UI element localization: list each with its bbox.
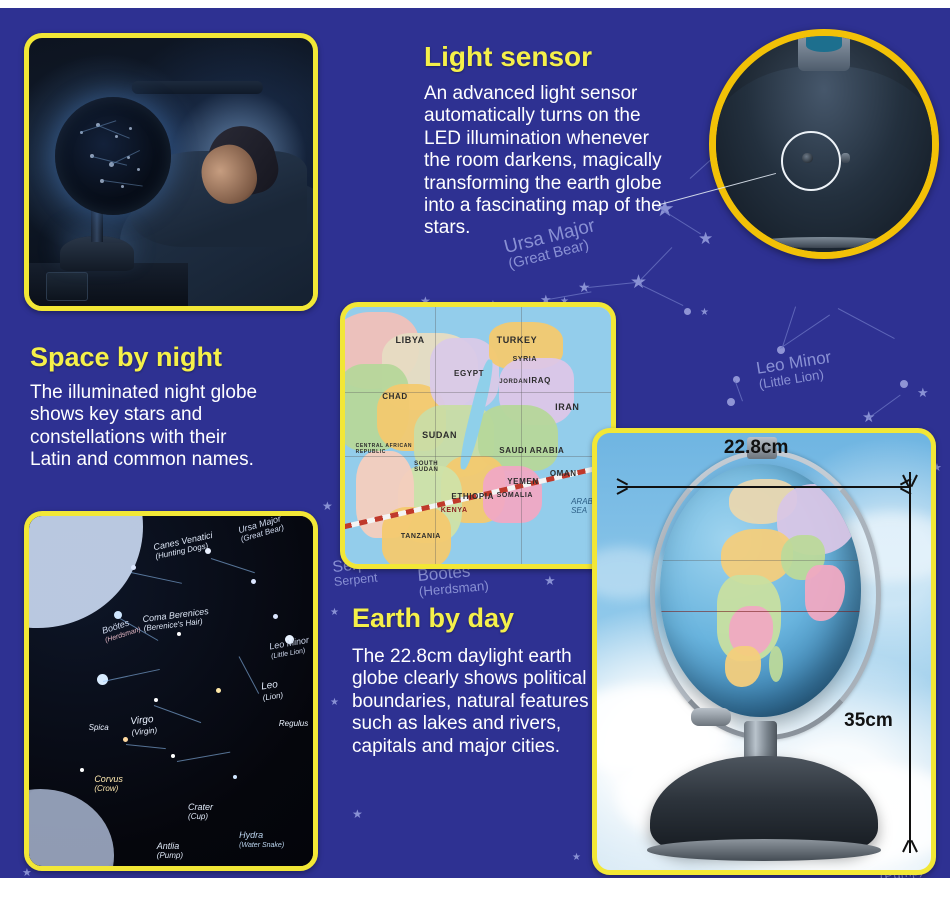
bed-headboard [132,81,263,94]
constellation-overlay [62,104,164,208]
bg-star: ★ [330,698,339,708]
globe-star-label: Spica [89,723,109,732]
map-country-label: CHAD [382,392,408,401]
bg-constellation-line [780,315,830,349]
globe-constellation-label: Crater(Cup) [188,803,213,822]
bg-star: ★ [330,608,339,618]
globe-constellation-label: Hydra(Water Snake) [239,831,284,850]
bg-constellation-line [640,284,684,306]
map-country-label: SUDAN [422,430,457,440]
bg-star: ★ [700,308,709,318]
map-country-label: TANZANIA [401,533,441,540]
lat-line [345,456,611,457]
bg-star: ★ [544,574,556,587]
bg-star: ★ [22,868,32,878]
globe-base-neck [798,29,850,71]
height-arrow-line [909,472,911,852]
bg-constellation-line [838,308,895,339]
bottom-white-margin [0,878,950,903]
bg-star: ★ [917,386,929,399]
height-dimension-label: 35cm [844,710,893,732]
width-arrow-left-head [617,479,629,486]
alarm-clock [46,272,88,301]
continent-india [805,565,845,621]
map-country-label: OMAN [550,469,577,478]
map-country-label: SOMALIA [497,492,533,499]
bg-star: ★ [630,273,647,292]
map-country-label: EGYPT [454,369,484,378]
bg-label-common: Serpent [333,569,394,589]
width-arrow-line [617,486,911,488]
bg-constellation-line [548,291,592,300]
light-sensor-heading: Light sensor [424,41,592,73]
bg-star-dot [727,398,735,406]
photo-map-closeup: LIBYA EGYPT CHAD SUDAN SOUTHSUDAN ETHIOP… [340,302,616,569]
map-country-label: YEMEN [507,477,538,486]
space-by-night-heading: Space by night [30,342,222,373]
bg-label-common: (Little Lion) [758,365,835,392]
globe-star-label: Regulus [279,719,308,728]
map-country-label: LIBYA [396,335,425,345]
map-country-label: TURKEY [497,335,538,345]
earth-by-day-heading: Earth by day [352,603,514,634]
map-country-label: JORDAN [499,379,528,385]
tropic-line [660,560,860,561]
bg-star: ★ [578,280,591,294]
bg-star-dot [900,380,908,388]
bg-star: ★ [322,500,333,512]
light-sensor-body: An advanced light sensor automatically t… [424,83,670,240]
map-country-label: KENYA [441,507,468,514]
equator-line [660,611,860,612]
globe-constellation-label: Antlia(Pump) [157,842,183,861]
map-country-label: SOUTHSUDAN [414,461,438,473]
map-country-label: ETHIOPIA [451,492,494,501]
globe-base-foot [751,237,898,248]
island-madagascar [769,646,783,681]
bg-star: ★ [698,230,713,247]
lon-line [521,307,522,564]
globe-constellation-label: Virgo(Virgin) [130,714,158,738]
bg-constellation-line [640,247,673,281]
bg-star: ★ [862,410,875,425]
map-country-label: IRAN [555,402,579,412]
infographic-page: Ursa Major (Great Bear) ★ ★ ★ ★ ★ Leo Mi… [0,0,950,903]
map-country-label: SYRIA [513,356,537,363]
bg-star: ★ [572,853,581,863]
bg-constellation-line [868,395,901,419]
globe-constellation-label: Leo(Lion) [261,679,284,703]
bg-constellation-leo-minor: Leo Minor (Little Lion) [755,347,835,391]
bg-label-name: Leo Minor [755,347,833,378]
night-globe-sphere [55,97,171,215]
bg-constellation-line [588,282,636,288]
space-by-night-body: The illuminated night globe shows key st… [30,382,260,472]
bg-star-dot [777,346,785,354]
globe-base-rim [647,839,881,861]
width-arrow-left-head [617,488,629,495]
height-arrow-top-head [911,474,918,487]
infographic-canvas: Ursa Major (Great Bear) ★ ★ ★ ★ ★ Leo Mi… [0,8,950,878]
map-country-label: IRAQ [529,376,551,385]
bg-constellation-line [735,380,743,401]
power-switch-icon [841,153,850,164]
earth-by-day-body: The 22.8cm daylight earth globe clearly … [352,646,592,758]
bg-label-common: (Herdsman) [418,578,489,599]
map-country-label: SAUDI ARABIA [499,446,564,455]
bg-label-common: (Great Bear) [507,235,601,273]
width-dimension-label: 22.8cm [724,437,788,459]
globe-bottom-mount [691,708,731,725]
bg-constellation-line [782,306,797,348]
continent-s-africa [725,646,761,687]
photo-globe-product: 22.8cm 35cm [592,428,936,875]
globe-sphere [660,464,860,717]
bg-star-dot [733,376,740,383]
photo-light-sensor-closeup [709,29,939,259]
night-globe-stand [91,210,102,242]
map-country-label: CENTRAL AFRICANREPUBLIC [356,443,413,455]
bg-star-dot [684,308,691,315]
photo-night-bedroom [24,33,318,311]
bg-star: ★ [352,808,363,820]
globe-constellation-label: Corvus(Crow) [94,775,123,794]
photo-constellation-globe-closeup: Canes Venatici(Hunting Dogs) Ursa Major(… [24,511,318,871]
top-white-margin [0,0,950,8]
